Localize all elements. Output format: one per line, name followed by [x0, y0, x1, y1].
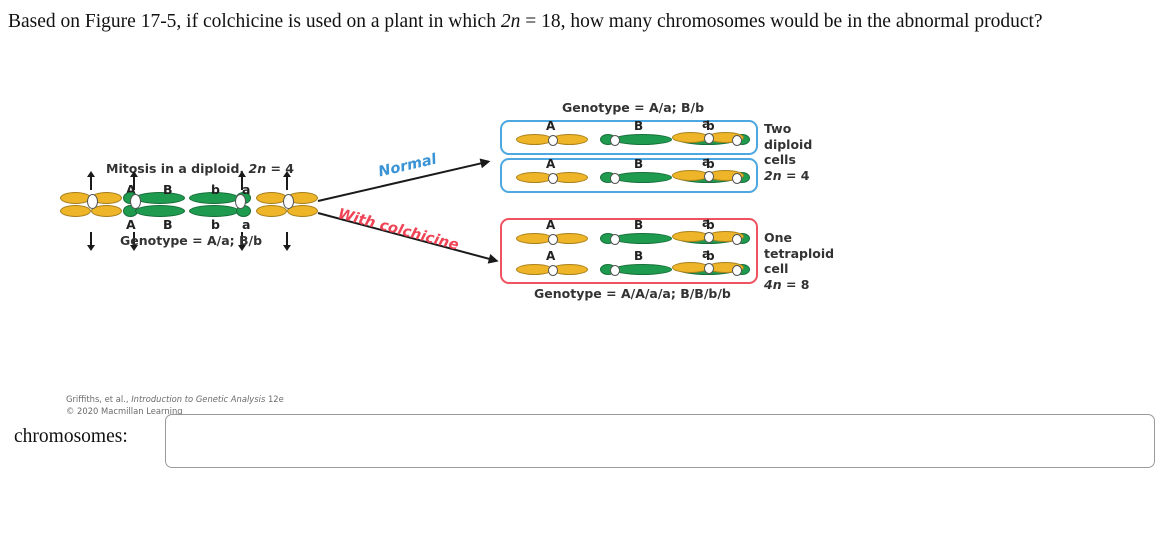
centromere-icon	[732, 135, 742, 146]
note-line-3: cells	[764, 152, 796, 167]
allele-label: B	[634, 157, 643, 171]
centromere-icon	[732, 173, 742, 184]
note-value: = 4	[782, 168, 810, 183]
centromere-icon	[704, 171, 714, 182]
allele-label-top: b	[211, 182, 220, 197]
daughter-chromosome-A: A	[516, 172, 588, 183]
centromere-icon	[548, 173, 558, 184]
centromere-icon	[610, 135, 620, 146]
allele-label: B	[634, 218, 643, 232]
tetraploid-cell-note: One tetraploid cell 4n = 8	[764, 230, 834, 292]
credit-authors: Griffiths, et al.,	[66, 394, 131, 404]
diploid-cells-note: Two diploid cells 2n = 4	[764, 121, 812, 183]
allele-label: a	[702, 155, 710, 169]
tetraploid-chromosome-A: A	[516, 233, 588, 244]
note-line-1: One	[764, 230, 792, 245]
centromere-icon	[87, 194, 98, 209]
daughter-chromosome-B: B	[600, 172, 672, 183]
tetraploid-chromosome-B: B	[600, 264, 672, 275]
allele-label: A	[546, 157, 555, 171]
allele-label: A	[546, 249, 555, 263]
spindle-arrow-up-icon	[90, 176, 92, 190]
allele-label: A	[546, 218, 555, 232]
centromere-icon	[548, 135, 558, 146]
note-line-2: tetraploid	[764, 246, 834, 261]
note-variable: 4n	[764, 277, 782, 292]
mitosis-title-text: Mitosis in a diploid,	[106, 161, 249, 176]
allele-label: A	[546, 119, 555, 133]
centromere-icon	[704, 232, 714, 243]
daughter-chromosome-A: A	[516, 134, 588, 145]
centromere-icon	[130, 194, 141, 209]
question-variable-2n: 2n	[501, 11, 521, 32]
daughter-chromosome-B: B	[600, 134, 672, 145]
centromere-icon	[732, 234, 742, 245]
tetraploid-cell: A B b A B	[500, 218, 758, 284]
diploid-genotype-label: Genotype = A/a; B/b	[562, 100, 704, 115]
centromere-icon	[548, 265, 558, 276]
answer-row: chromosomes:	[0, 408, 1168, 478]
parent-chromosome-a: a a	[256, 188, 318, 234]
allele-label-bottom: a	[242, 217, 250, 232]
centromere-icon	[704, 133, 714, 144]
allele-label: B	[634, 249, 643, 263]
credit-book-title: Introduction to Genetic Analysis	[131, 394, 265, 404]
allele-label: B	[634, 119, 643, 133]
answer-label: chromosomes:	[14, 426, 128, 448]
tetraploid-chromosome-A: A	[516, 264, 588, 275]
allele-label: a	[702, 117, 710, 131]
centromere-icon	[610, 234, 620, 245]
credit-edition: 12e	[265, 394, 283, 404]
parent-chromosome-B: B B	[123, 188, 185, 234]
spindle-arrow-down-icon	[90, 232, 92, 246]
note-variable: 2n	[764, 168, 782, 183]
centromere-icon	[235, 194, 246, 209]
centromere-icon	[610, 265, 620, 276]
spindle-arrow-up-icon	[286, 176, 288, 190]
allele-label-bottom: B	[163, 217, 173, 232]
mitosis-title-variable: 2n	[249, 161, 267, 176]
centromere-icon	[704, 263, 714, 274]
colchicine-pathway-label: With colchicine	[336, 206, 460, 254]
answer-input[interactable]	[165, 414, 1155, 468]
centromere-icon	[610, 173, 620, 184]
tetraploid-genotype-label: Genotype = A/A/a/a; B/B/b/b	[534, 286, 731, 301]
note-line-2: diploid	[764, 137, 812, 152]
centromere-icon	[732, 265, 742, 276]
centromere-icon	[548, 234, 558, 245]
allele-label: a	[702, 247, 710, 261]
tetraploid-chromosome-B: B	[600, 233, 672, 244]
parent-chromosome-A: A A	[60, 188, 122, 234]
question-part-2: = 18, how many chromosomes would be in t…	[520, 11, 1042, 32]
spindle-arrow-down-icon	[286, 232, 288, 246]
allele-label-top: B	[163, 182, 173, 197]
question-part-1: Based on Figure 17-5, if colchicine is u…	[8, 11, 501, 32]
allele-label-bottom: b	[211, 217, 220, 232]
note-line-1: Two	[764, 121, 791, 136]
mitosis-genotype-label: Genotype = A/a; B/b	[120, 233, 262, 248]
allele-label: a	[702, 216, 710, 230]
centromere-icon	[283, 194, 294, 209]
note-value: = 8	[782, 277, 810, 292]
spindle-arrow-up-icon	[133, 176, 135, 190]
question-text: Based on Figure 17-5, if colchicine is u…	[8, 6, 1158, 37]
figure-17-5: Mitosis in a diploid, 2n = 4 A A B	[0, 88, 900, 338]
note-line-3: cell	[764, 261, 788, 276]
